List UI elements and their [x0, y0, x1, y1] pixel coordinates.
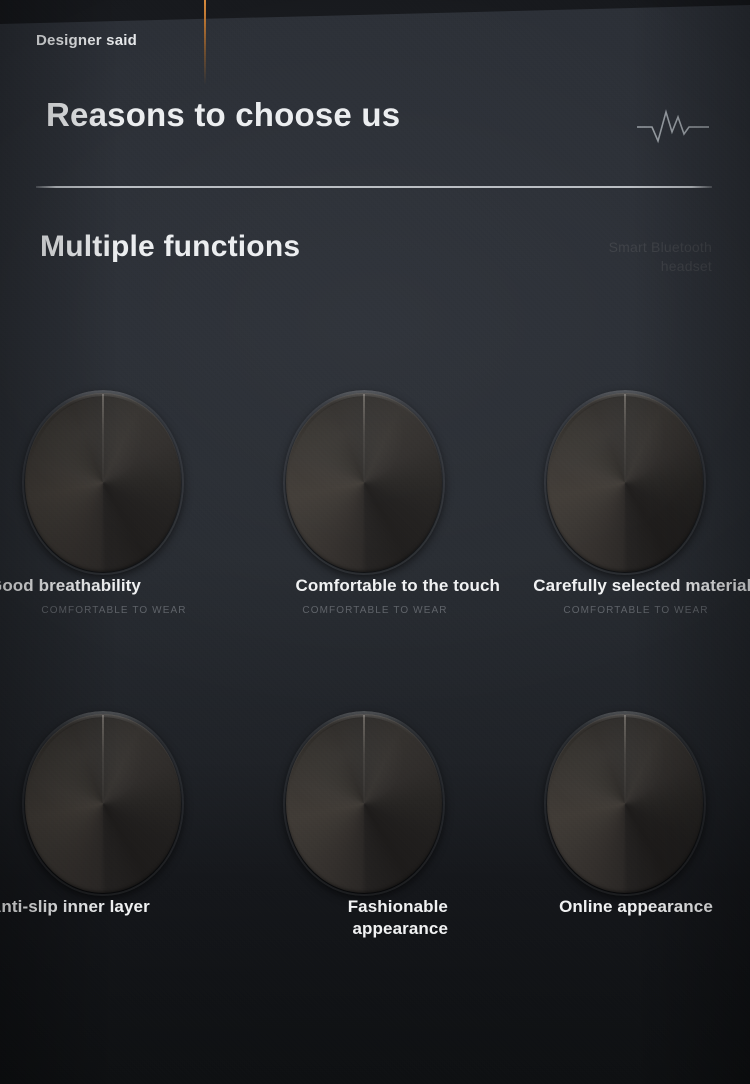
feature-subtitle: COMFORTABLE TO WEAR [0, 605, 239, 616]
feature-title: Comfortable to the touch [250, 575, 500, 597]
feature-card-good-breathability[interactable]: Good breathability COMFORTABLE TO WEAR [0, 393, 239, 575]
feature-card-fashionable-appearance[interactable]: Fashionable appearance [250, 714, 500, 896]
feature-card-anti-slip-inner-layer[interactable]: Anti-slip inner layer [0, 714, 239, 896]
knob-dial-icon [286, 714, 442, 893]
feature-caption: Good breathability COMFORTABLE TO WEAR [0, 575, 239, 616]
feature-card-online-appearance[interactable]: Online appearance [511, 714, 750, 896]
feature-icon-wrap [250, 714, 500, 896]
feature-icon-wrap [0, 393, 239, 575]
feature-icon-wrap [0, 714, 239, 896]
knob-dial-icon [286, 393, 442, 572]
knob-dial-icon [25, 393, 181, 572]
feature-title: Good breathability [0, 575, 239, 597]
feature-card-comfortable-to-the-touch[interactable]: Comfortable to the touch COMFORTABLE TO … [250, 393, 500, 575]
knob-dial-icon [547, 714, 703, 893]
feature-icon-wrap [511, 393, 750, 575]
feature-caption: Comfortable to the touch COMFORTABLE TO … [250, 575, 500, 616]
feature-subtitle: COMFORTABLE TO WEAR [250, 605, 500, 616]
feature-title: Online appearance [511, 896, 750, 918]
knob-dial-icon [25, 714, 181, 893]
feature-icon-wrap [250, 393, 500, 575]
feature-card-carefully-selected-materials[interactable]: Carefully selected materials COMFORTABLE… [511, 393, 750, 575]
feature-caption: Fashionable appearance [250, 896, 500, 948]
feature-icon-wrap [511, 714, 750, 896]
promo-page: Designer said Reasons to choose us Multi… [0, 0, 750, 1084]
feature-caption: Anti-slip inner layer [0, 896, 239, 926]
feature-title: Anti-slip inner layer [0, 896, 239, 918]
feature-title: Fashionable appearance [250, 896, 500, 940]
feature-grid: Good breathability COMFORTABLE TO WEAR C… [0, 0, 750, 1084]
feature-subtitle: COMFORTABLE TO WEAR [511, 605, 750, 616]
knob-dial-icon [547, 393, 703, 572]
feature-caption: Online appearance [511, 896, 750, 926]
feature-title: Carefully selected materials [511, 575, 750, 597]
feature-caption: Carefully selected materials COMFORTABLE… [511, 575, 750, 616]
